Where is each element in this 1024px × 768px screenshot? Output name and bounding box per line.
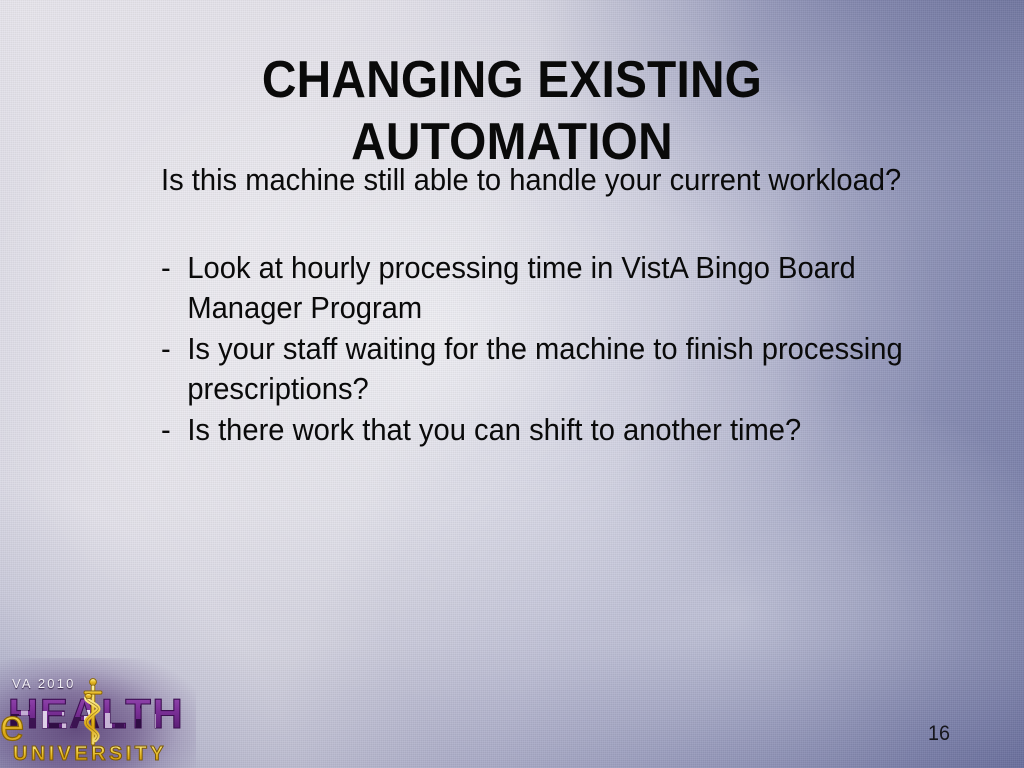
bullet-dash-icon: - — [161, 248, 187, 288]
slide-title: CHANGING EXISTING AUTOMATION — [41, 49, 983, 173]
logo-subtitle-university: UNIVERSITY — [13, 743, 167, 765]
list-item-label: Look at hourly processing time in VistA … — [187, 248, 903, 328]
list-item-label: Is there work that you can shift to anot… — [187, 410, 903, 450]
slide-page-number: 16 — [928, 722, 950, 746]
logo-year-label: VA 2010 — [12, 676, 76, 691]
slide-body: Is this machine still able to handle you… — [161, 160, 904, 451]
presentation-slide: CHANGING EXISTING AUTOMATION Is this mac… — [0, 0, 1024, 768]
list-item: - Is there work that you can shift to an… — [161, 410, 904, 450]
bullet-dash-icon: - — [161, 410, 187, 450]
list-item: - Look at hourly processing time in Vist… — [161, 248, 904, 328]
bullet-list: - Look at hourly processing time in Vist… — [161, 248, 904, 450]
list-item-label: Is your staff waiting for the machine to… — [187, 329, 903, 409]
list-item: - Is your staff waiting for the machine … — [161, 329, 904, 409]
lead-paragraph: Is this machine still able to handle you… — [161, 160, 904, 200]
va-ehealth-university-logo: HEALTH HEALTH — [0, 674, 182, 768]
bullet-dash-icon: - — [161, 329, 187, 369]
